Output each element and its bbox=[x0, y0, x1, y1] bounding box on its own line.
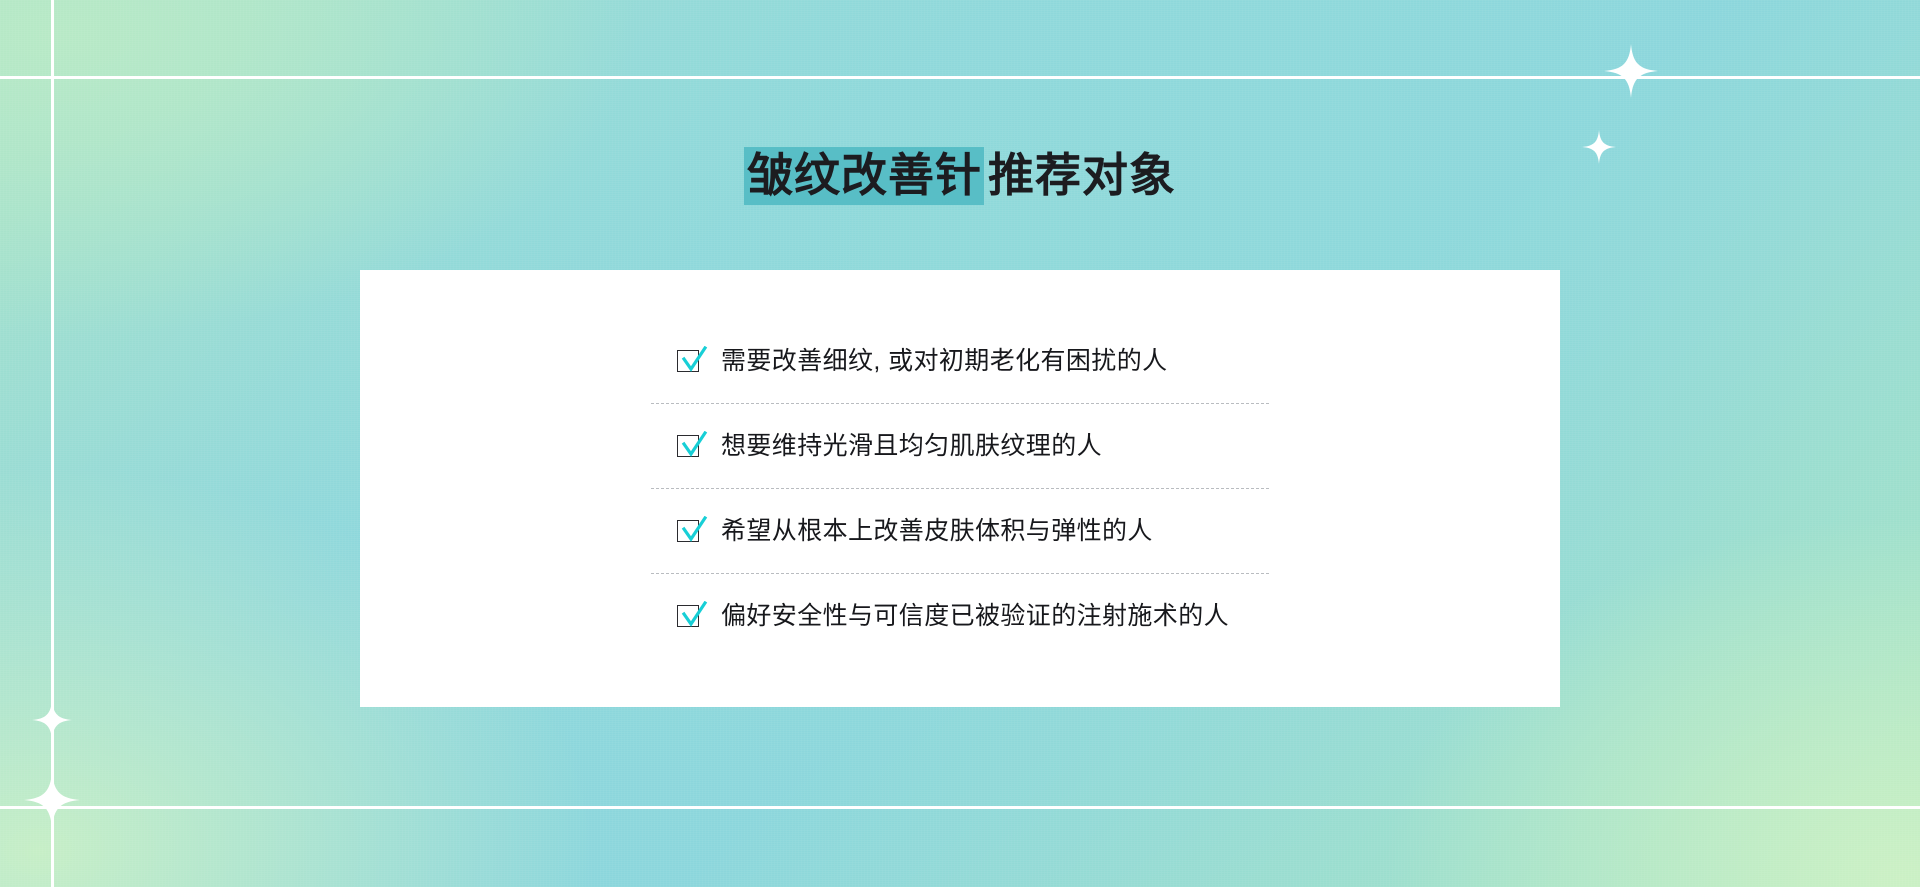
checkbox-checked-icon[interactable] bbox=[677, 603, 703, 629]
list-item-label: 需要改善细纹, 或对初期老化有困扰的人 bbox=[721, 346, 1168, 376]
recommendation-card: 需要改善细纹, 或对初期老化有困扰的人 想要维持光滑且均匀肌肤纹理的人 bbox=[360, 270, 1560, 707]
checkbox-checked-icon[interactable] bbox=[677, 433, 703, 459]
frame-line-vertical-left bbox=[51, 0, 54, 887]
list-item[interactable]: 偏好安全性与可信度已被验证的注射施术的人 bbox=[360, 573, 1560, 658]
sparkle-bottom-left-large bbox=[24, 772, 80, 828]
frame-line-horizontal-bottom bbox=[0, 806, 1920, 809]
list-item-label: 希望从根本上改善皮肤体积与弹性的人 bbox=[721, 516, 1153, 546]
list-item[interactable]: 需要改善细纹, 或对初期老化有困扰的人 bbox=[360, 318, 1560, 403]
page-title-plain: 推荐对象 bbox=[984, 149, 1176, 201]
sparkle-top-right-large bbox=[1604, 44, 1658, 98]
list-item[interactable]: 想要维持光滑且均匀肌肤纹理的人 bbox=[360, 403, 1560, 488]
recommendation-list: 需要改善细纹, 或对初期老化有困扰的人 想要维持光滑且均匀肌肤纹理的人 bbox=[360, 270, 1560, 707]
sparkle-bottom-left-small bbox=[32, 700, 72, 740]
page-title-highlight: 皱纹改善针 bbox=[744, 147, 984, 205]
page-title: 皱纹改善针推荐对象 bbox=[744, 149, 1176, 201]
slide-canvas: 皱纹改善针推荐对象 需要改善细纹, 或对初期老化有困扰的人 bbox=[0, 0, 1920, 887]
list-item-label: 想要维持光滑且均匀肌肤纹理的人 bbox=[721, 431, 1102, 461]
checkbox-checked-icon[interactable] bbox=[677, 348, 703, 374]
page-title-container: 皱纹改善针推荐对象 bbox=[0, 149, 1920, 201]
checkbox-checked-icon[interactable] bbox=[677, 518, 703, 544]
list-item[interactable]: 希望从根本上改善皮肤体积与弹性的人 bbox=[360, 488, 1560, 573]
list-item-label: 偏好安全性与可信度已被验证的注射施术的人 bbox=[721, 601, 1229, 631]
